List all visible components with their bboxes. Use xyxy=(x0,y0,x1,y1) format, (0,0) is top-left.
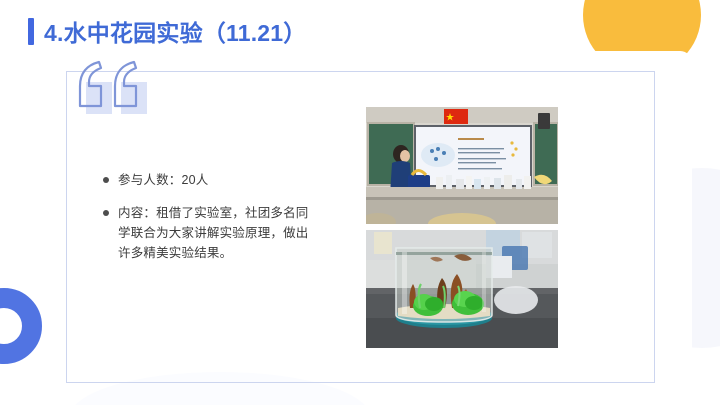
page-title: 4.水中花园实验（11.21） xyxy=(28,14,306,48)
bullet-item-label: 参与人数：20人 xyxy=(118,170,209,190)
slide-canvas: 4.水中花园实验（11.21） 参与人数：20人 内容：租借了实验室，社团多名同… xyxy=(0,0,720,405)
list-item: 内容：租借了实验室，社团多名同学联合为大家讲解实验原理，做出许多精美实验结果。 xyxy=(103,203,313,263)
bullet-list: 参与人数：20人 内容：租借了实验室，社团多名同学联合为大家讲解实验原理，做出许… xyxy=(103,170,313,276)
bullet-dot-icon xyxy=(103,210,109,216)
list-item: 参与人数：20人 xyxy=(103,170,313,190)
bullet-dot-icon xyxy=(103,177,109,183)
quote-glyph-icon xyxy=(74,60,164,122)
water-garden-jar-photo xyxy=(366,230,558,348)
title-text: 4.水中花园实验（11.21） xyxy=(44,14,306,48)
title-accent-bar xyxy=(28,18,34,45)
classroom-presentation-photo xyxy=(366,107,558,224)
bullet-item-label: 内容：租借了实验室，社团多名同学联合为大家讲解实验原理，做出许多精美实验结果。 xyxy=(118,203,313,263)
blue-ring-decoration xyxy=(0,288,42,364)
quote-mark-decoration xyxy=(74,60,164,122)
